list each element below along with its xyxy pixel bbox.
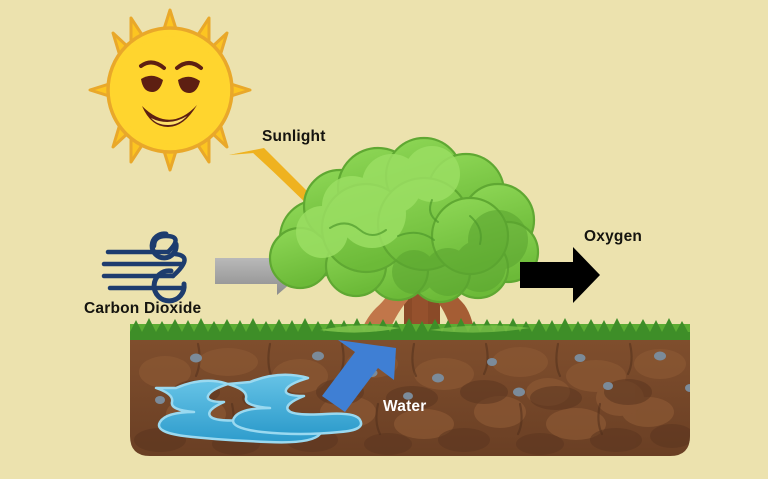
photosynthesis-diagram: Sunlight Carbon Dioxide Oxygen Water — [0, 0, 768, 479]
ground-block — [130, 318, 695, 456]
tree-icon — [270, 138, 538, 340]
label-oxygen: Oxygen — [584, 228, 642, 246]
grass-layer — [130, 318, 690, 340]
wind-swirl-icon — [104, 234, 185, 301]
sun-with-face-icon — [90, 10, 250, 170]
label-sunlight: Sunlight — [262, 128, 326, 146]
label-carbon-dioxide: Carbon Dioxide — [84, 300, 201, 318]
label-water: Water — [383, 398, 427, 416]
